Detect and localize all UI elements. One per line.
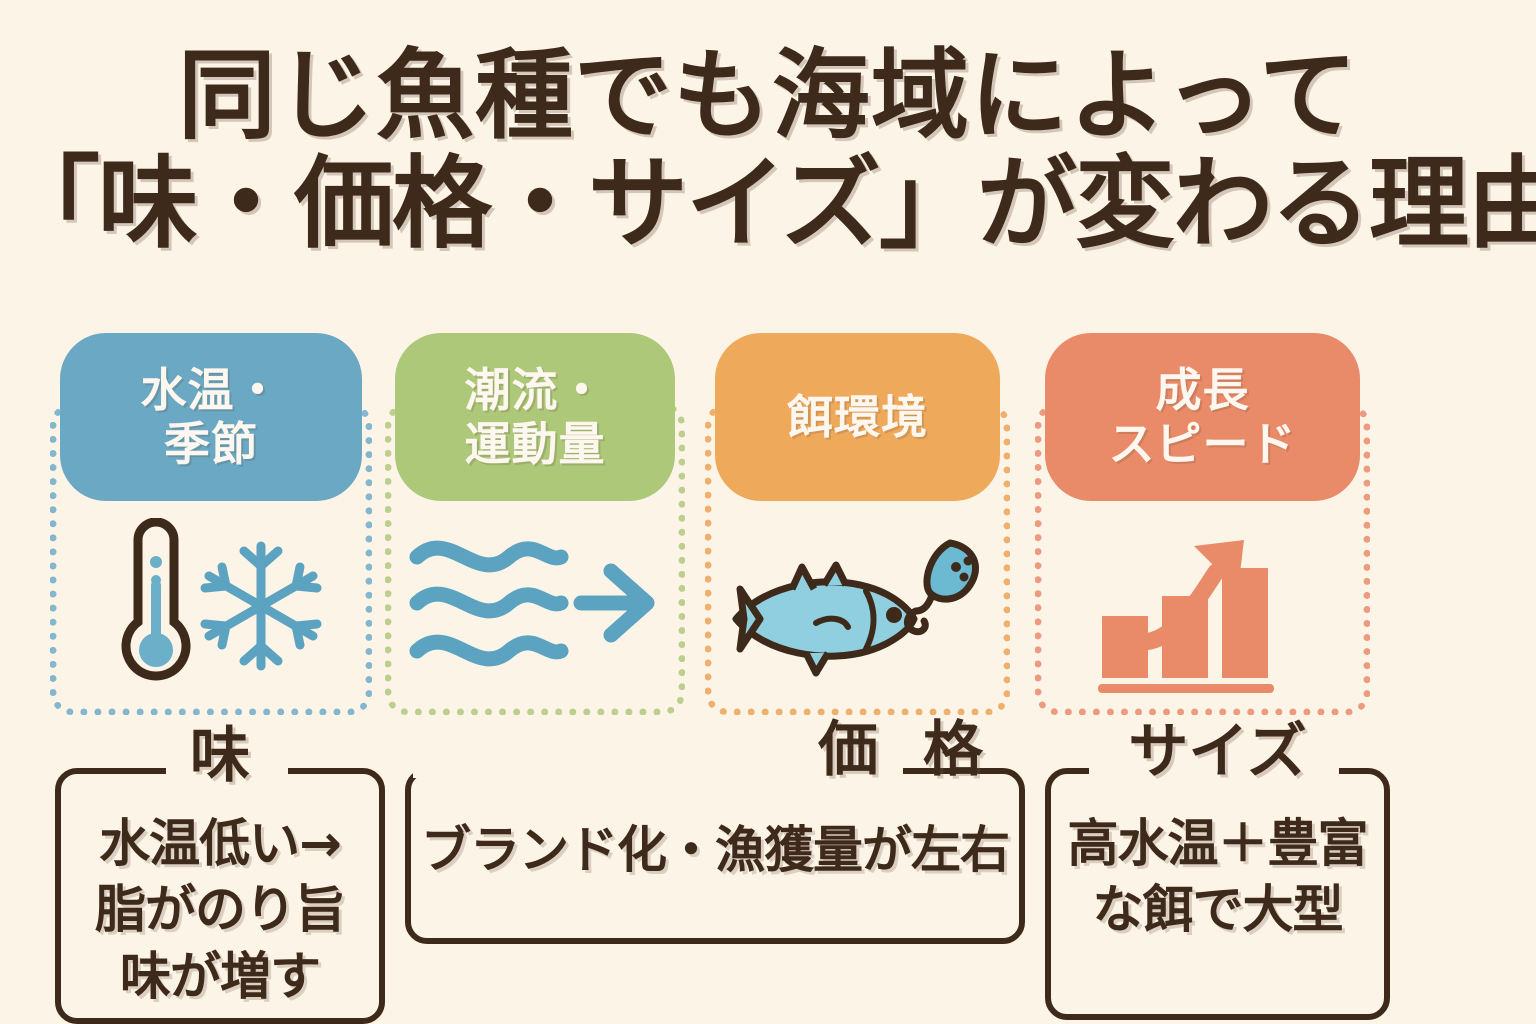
factor-label-line-2: 季節	[141, 417, 282, 471]
outcome-body-line: 味が増す	[61, 945, 379, 1011]
outcome-box-taste[interactable]: 味 水温低い→ 脂がのり旨 味が増す	[55, 768, 385, 1024]
factor-card-current-activity[interactable]: 潮流・ 運動量	[385, 333, 685, 715]
factor-label: 成長 スピード	[1109, 363, 1297, 472]
factor-label-line-2: 運動量	[465, 417, 606, 471]
snowflake-icon	[205, 546, 317, 666]
outcome-body-line: ブランド化・漁獲量が左右	[411, 818, 1019, 883]
outcome-body-taste: 水温低い→ 脂がのり旨 味が増す	[61, 812, 379, 1011]
factor-label: 餌環境	[787, 390, 928, 444]
factor-card-growth-speed[interactable]: 成長 スピード	[1035, 333, 1370, 715]
factor-label-line-1: 餌環境	[787, 390, 928, 444]
factor-icons	[705, 513, 1010, 703]
outcome-body-line: 脂がのり旨	[61, 878, 379, 944]
factor-pill: 水温・ 季節	[60, 333, 362, 501]
arrow-right-icon	[581, 571, 647, 635]
fish-icon	[736, 565, 914, 673]
thermometer-snowflake-icon-group	[76, 518, 346, 698]
squid-bait-icon	[907, 543, 975, 632]
bar-chart-growth-icon	[1078, 518, 1328, 698]
factor-label-line-2: スピード	[1109, 417, 1297, 471]
outcome-body-line: 高水温＋豊富	[1051, 812, 1384, 878]
thermometer-icon	[126, 522, 186, 676]
title-line-1: 同じ魚種でも海域によって	[0, 44, 1536, 150]
page-title: 同じ魚種でも海域によって 「味・価格・サイズ」が変わる理由	[0, 44, 1536, 258]
infographic-root: 同じ魚種でも海域によって 「味・価格・サイズ」が変わる理由 水温・ 季節	[0, 0, 1536, 1024]
outcome-box-size[interactable]: サイズ 高水温＋豊富 な餌で大型	[1045, 768, 1390, 1020]
factor-label: 潮流・ 運動量	[465, 363, 606, 472]
title-line-2: 「味・価格・サイズ」が変わる理由	[0, 150, 1536, 258]
factor-card-row: 水温・ 季節	[50, 333, 1390, 715]
outcome-box-price[interactable]: 価 格 ブランド化・漁獲量が左右	[405, 768, 1025, 944]
outcome-title-taste: 味	[190, 726, 250, 786]
outcome-title-price: 価 格	[818, 720, 995, 780]
outcome-body-line: な餌で大型	[1051, 878, 1384, 944]
factor-pill: 餌環境	[715, 333, 1000, 501]
factor-card-bait-environment[interactable]: 餌環境	[705, 333, 1010, 715]
outcome-title-size: サイズ	[1128, 722, 1306, 782]
factor-icons	[50, 513, 372, 703]
factor-card-water-temp-season[interactable]: 水温・ 季節	[50, 333, 372, 715]
outcome-body-line: 水温低い→	[61, 812, 379, 878]
factor-pill: 成長 スピード	[1045, 333, 1360, 501]
factor-label-line-1: 潮流・	[465, 363, 606, 417]
waves-icon	[417, 548, 561, 659]
factor-label-line-1: 水温・	[141, 363, 282, 417]
outcome-body-price: ブランド化・漁獲量が左右	[411, 818, 1019, 883]
fish-bait-icon-group	[718, 523, 998, 693]
factor-pill: 潮流・ 運動量	[395, 333, 675, 501]
factor-icons	[1035, 513, 1370, 703]
waves-arrow-icon-group	[405, 523, 665, 693]
outcome-body-size: 高水温＋豊富 な餌で大型	[1051, 812, 1384, 945]
factor-label: 水温・ 季節	[141, 363, 282, 472]
factor-icons	[385, 513, 685, 703]
factor-label-line-1: 成長	[1109, 363, 1297, 417]
